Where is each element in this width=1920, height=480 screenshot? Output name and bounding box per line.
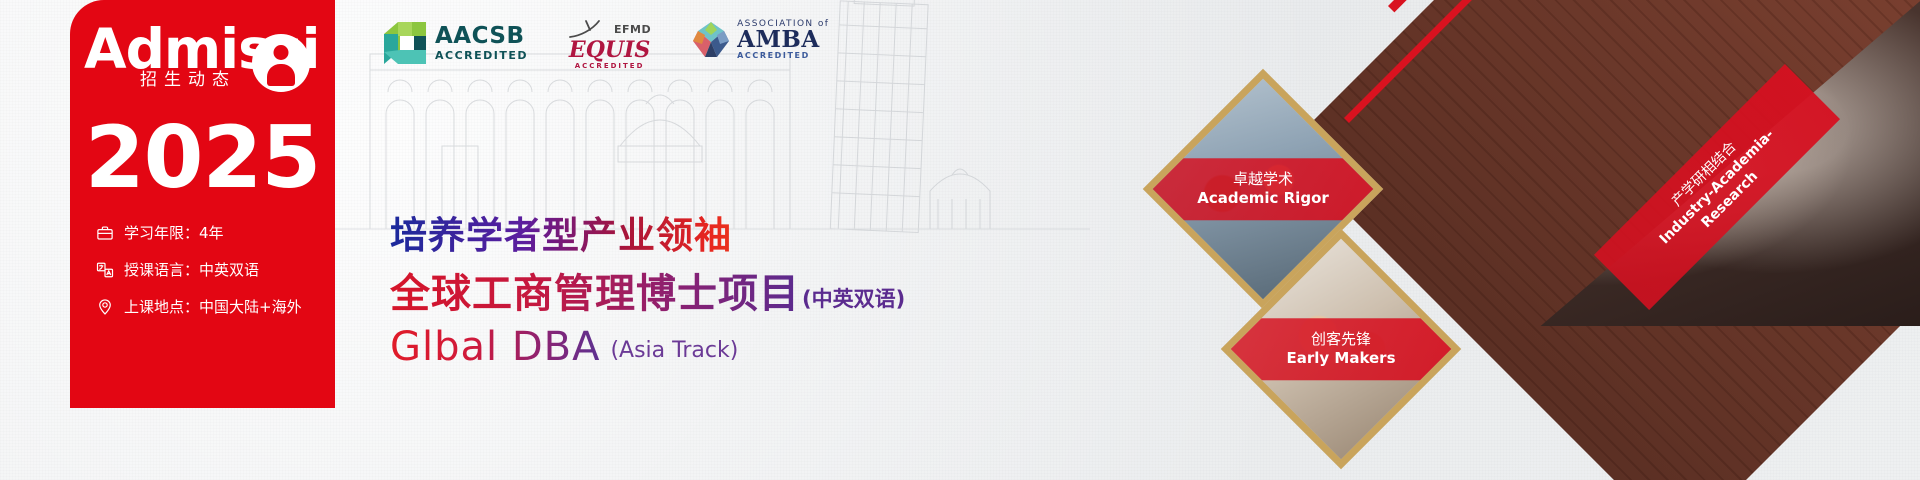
program-title-en: Glbal DBA <box>390 324 600 370</box>
info-row-language: 授课语言：中英双语 <box>94 259 324 280</box>
tile-caption-academic-rigor: 卓越学术 Academic Rigor <box>1185 170 1341 208</box>
program-year: 2025 <box>70 108 335 208</box>
info-row-location: 上课地点：中国大陆+海外 <box>94 296 324 317</box>
left-red-panel: Admissi 招生动态 2025 学习年限：4年 <box>70 0 335 408</box>
location-pin-icon <box>94 296 115 317</box>
program-title-cn: 全球工商管理博士项目 <box>390 270 800 318</box>
program-tagline: 培养学者型产业领袖 <box>390 214 905 258</box>
aacsb-title: AACSB <box>435 25 528 48</box>
tile-caption-en: Early Makers <box>1263 349 1419 368</box>
info-row-duration: 学习年限：4年 <box>94 222 324 243</box>
language-icon <box>94 259 115 280</box>
program-title-cn-suffix: (中英双语) <box>802 284 905 314</box>
briefcase-icon <box>94 222 115 243</box>
aacsb-logo: AACSB ACCREDITED <box>382 20 528 66</box>
aacsb-subtitle: ACCREDITED <box>435 50 528 61</box>
admission-logo-chinese: 招生动态 <box>140 72 236 89</box>
aacsb-squares-icon <box>382 20 428 66</box>
tile-caption-cn: 卓越学术 <box>1185 170 1341 189</box>
admission-banner: Admissi 招生动态 2025 学习年限：4年 <box>0 0 1920 480</box>
headline-block: 培养学者型产业领袖 全球工商管理博士项目 (中英双语) Glbal DBA (A… <box>390 214 905 370</box>
accreditation-logos: AACSB ACCREDITED EFMD EQUIS ACCREDITED <box>382 20 829 70</box>
program-info-list: 学习年限：4年 授课语言：中英双语 <box>94 222 324 333</box>
amba-title: AMBA <box>737 28 829 51</box>
efmd-swoosh-icon <box>568 19 610 39</box>
amba-logo: ASSOCIATION of AMBA ACCREDITED <box>691 20 829 60</box>
info-text-duration: 学习年限：4年 <box>124 224 224 242</box>
equis-subtitle: ACCREDITED <box>568 63 651 70</box>
equis-title: EQUIS <box>568 39 651 61</box>
tile-caption-cn: 创客先锋 <box>1263 330 1419 349</box>
info-text-language: 授课语言：中英双语 <box>124 261 259 279</box>
admission-logo-lockup: Admissi 招生动态 <box>84 22 336 108</box>
person-in-circle-icon <box>252 34 310 92</box>
info-text-location: 上课地点：中国大陆+海外 <box>124 298 302 316</box>
amba-subtitle: ACCREDITED <box>737 52 829 60</box>
tile-caption-early-makers: 创客先锋 Early Makers <box>1263 330 1419 368</box>
efmd-label: EFMD <box>614 24 651 35</box>
program-title-en-suffix: (Asia Track) <box>610 336 738 366</box>
equis-logo: EFMD EQUIS ACCREDITED <box>568 20 651 70</box>
amba-diamond-icon <box>691 21 731 59</box>
photo-collage: 卓越学术 Academic Rigor 创客先锋 Early Makers 产学… <box>1130 0 1920 480</box>
tile-caption-en: Academic Rigor <box>1185 189 1341 208</box>
